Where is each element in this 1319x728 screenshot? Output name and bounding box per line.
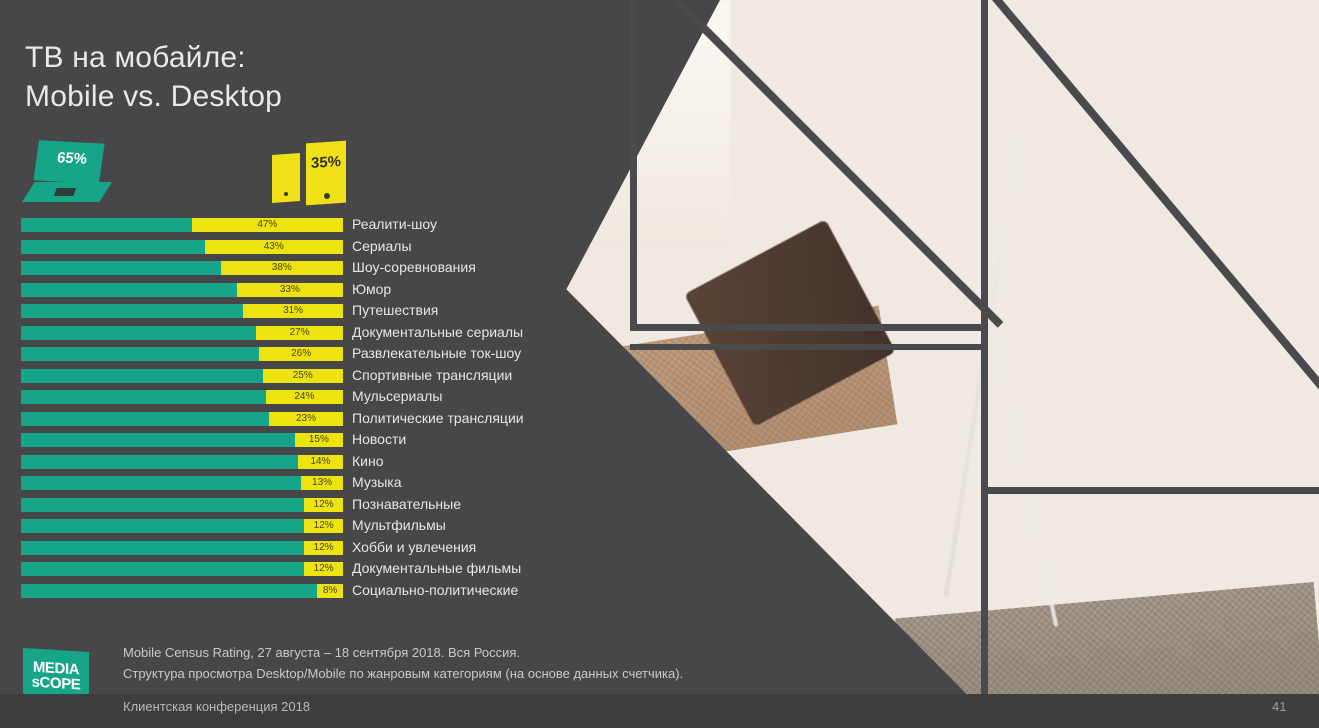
bar-value-label: 12%: [314, 500, 334, 510]
stacked-bar: 12%: [21, 498, 343, 512]
category-label: Спортивные трансляции: [352, 367, 512, 383]
chart-row: 23%Политические трансляции: [21, 412, 721, 434]
chart-row: 31%Путешествия: [21, 304, 721, 326]
bar-segment-mobile: 47%: [192, 218, 343, 232]
bar-value-label: 43%: [264, 242, 284, 252]
chart-row: 33%Юмор: [21, 283, 721, 305]
source-note: Mobile Census Rating, 27 августа – 18 се…: [123, 642, 683, 685]
stacked-bar: 12%: [21, 519, 343, 533]
category-label: Социально-политические: [352, 582, 518, 598]
chart-row: 8%Социально-политические: [21, 584, 721, 606]
bar-value-label: 31%: [283, 306, 303, 316]
bar-value-label: 8%: [323, 586, 337, 596]
category-label: Кино: [352, 453, 384, 469]
bar-segment-mobile: 26%: [259, 347, 343, 361]
stacked-bar: 24%: [21, 390, 343, 404]
bar-segment-desktop: [21, 519, 304, 533]
bar-segment-mobile: 31%: [243, 304, 343, 318]
bar-value-label: 12%: [314, 521, 334, 531]
bar-segment-desktop: [21, 541, 304, 555]
category-label: Реалити-шоу: [352, 216, 437, 232]
category-label: Шоу-соревнования: [352, 259, 476, 275]
bar-value-label: 26%: [291, 349, 311, 359]
chart-row: 47%Реалити-шоу: [21, 218, 721, 240]
stacked-bar: 8%: [21, 584, 343, 598]
category-label: Развлекательные ток-шоу: [352, 345, 521, 361]
grid-line-vertical-3: [981, 490, 988, 728]
genre-share-chart: 47%Реалити-шоу43%Сериалы38%Шоу-соревнова…: [21, 218, 721, 605]
smartphone-home-button-small: [284, 192, 288, 196]
source-line-1: Mobile Census Rating, 27 августа – 18 се…: [123, 642, 683, 663]
bar-value-label: 15%: [309, 435, 329, 445]
stacked-bar: 33%: [21, 283, 343, 297]
stacked-bar: 12%: [21, 541, 343, 555]
stacked-bar: 47%: [21, 218, 343, 232]
category-label: Сериалы: [352, 238, 412, 254]
bar-value-label: 38%: [272, 263, 292, 273]
laptop-trackpad: [54, 188, 76, 196]
title-line-2: Mobile vs. Desktop: [25, 77, 282, 116]
bar-segment-mobile: 33%: [237, 283, 343, 297]
bar-segment-mobile: 27%: [256, 326, 343, 340]
chart-row: 26%Развлекательные ток-шоу: [21, 347, 721, 369]
bar-segment-desktop: [21, 433, 295, 447]
page-number: 41: [1272, 699, 1286, 714]
bar-value-label: 47%: [257, 220, 277, 230]
laptop-icon: 65%: [22, 142, 112, 206]
bar-value-label: 14%: [310, 457, 330, 467]
desktop-share-label: 65%: [43, 149, 101, 169]
category-label: Познавательные: [352, 496, 461, 512]
bar-segment-desktop: [21, 283, 237, 297]
category-label: Новости: [352, 431, 406, 447]
bar-segment-mobile: 12%: [304, 541, 343, 555]
bar-segment-mobile: 14%: [298, 455, 343, 469]
bar-segment-mobile: 24%: [266, 390, 343, 404]
bar-segment-desktop: [21, 347, 259, 361]
stacked-bar: 12%: [21, 562, 343, 576]
bar-segment-desktop: [21, 498, 304, 512]
slide-canvas: ТВ на мобайле: Mobile vs. Desktop 65% 35…: [0, 0, 1319, 728]
grid-line-horizontal-3: [984, 487, 1319, 494]
bar-segment-desktop: [21, 240, 205, 254]
chart-row: 15%Новости: [21, 433, 721, 455]
bar-value-label: 13%: [312, 478, 332, 488]
bar-value-label: 27%: [290, 328, 310, 338]
bar-segment-desktop: [21, 304, 243, 318]
smartphone-home-button-large: [324, 193, 330, 199]
stacked-bar: 31%: [21, 304, 343, 318]
bar-segment-mobile: 8%: [317, 584, 343, 598]
title-line-1: ТВ на мобайле:: [25, 38, 282, 77]
stacked-bar: 43%: [21, 240, 343, 254]
bar-segment-desktop: [21, 218, 192, 232]
bar-segment-desktop: [21, 412, 269, 426]
category-label: Мульсериалы: [352, 388, 442, 404]
logo-line-2: sCOPE: [32, 674, 81, 693]
bar-segment-desktop: [21, 584, 317, 598]
chart-row: 12%Мультфильмы: [21, 519, 721, 541]
chart-row: 14%Кино: [21, 455, 721, 477]
bar-segment-desktop: [21, 369, 263, 383]
bar-segment-desktop: [21, 261, 221, 275]
stacked-bar: 15%: [21, 433, 343, 447]
stacked-bar: 13%: [21, 476, 343, 490]
device-split-summary: 65% 35%: [18, 138, 358, 210]
bar-value-label: 12%: [314, 564, 334, 574]
mobile-share-label: 35%: [306, 153, 346, 173]
category-label: Музыка: [352, 474, 402, 490]
stacked-bar: 26%: [21, 347, 343, 361]
chart-row: 12%Документальные фильмы: [21, 562, 721, 584]
bar-value-label: 25%: [293, 371, 313, 381]
bar-value-label: 23%: [296, 414, 316, 424]
bar-segment-mobile: 25%: [263, 369, 344, 383]
chart-row: 24%Мульсериалы: [21, 390, 721, 412]
stacked-bar: 38%: [21, 261, 343, 275]
bar-segment-desktop: [21, 326, 256, 340]
bar-segment-mobile: 15%: [295, 433, 343, 447]
stacked-bar: 27%: [21, 326, 343, 340]
bar-segment-mobile: 23%: [269, 412, 343, 426]
bar-segment-desktop: [21, 562, 304, 576]
page-title: ТВ на мобайле: Mobile vs. Desktop: [25, 38, 282, 116]
bar-segment-mobile: 13%: [301, 476, 343, 490]
category-label: Политические трансляции: [352, 410, 524, 426]
category-label: Документальные фильмы: [352, 560, 521, 576]
stacked-bar: 23%: [21, 412, 343, 426]
chart-row: 43%Сериалы: [21, 240, 721, 262]
bar-value-label: 12%: [314, 543, 334, 553]
stacked-bar: 14%: [21, 455, 343, 469]
chart-row: 27%Документальные сериалы: [21, 326, 721, 348]
source-line-2: Структура просмотра Desktop/Mobile по жа…: [123, 663, 683, 684]
bar-segment-mobile: 12%: [304, 562, 343, 576]
bar-value-label: 33%: [280, 285, 300, 295]
bar-value-label: 24%: [294, 392, 314, 402]
chart-row: 38%Шоу-соревнования: [21, 261, 721, 283]
category-label: Хобби и увлечения: [352, 539, 476, 555]
bar-segment-mobile: 43%: [205, 240, 343, 254]
chart-row: 25%Спортивные трансляции: [21, 369, 721, 391]
category-label: Документальные сериалы: [352, 324, 523, 340]
category-label: Путешествия: [352, 302, 438, 318]
bar-segment-desktop: [21, 476, 301, 490]
bar-segment-desktop: [21, 390, 266, 404]
category-label: Мультфильмы: [352, 517, 446, 533]
grid-line-vertical-2: [981, 0, 988, 500]
category-label: Юмор: [352, 281, 391, 297]
chart-row: 12%Познавательные: [21, 498, 721, 520]
conference-label: Клиентская конференция 2018: [123, 699, 310, 714]
bar-segment-mobile: 12%: [304, 519, 343, 533]
bar-segment-mobile: 38%: [221, 261, 343, 275]
bar-segment-mobile: 12%: [304, 498, 343, 512]
stacked-bar: 25%: [21, 369, 343, 383]
bar-segment-desktop: [21, 455, 298, 469]
chart-row: 13%Музыка: [21, 476, 721, 498]
chart-row: 12%Хобби и увлечения: [21, 541, 721, 563]
